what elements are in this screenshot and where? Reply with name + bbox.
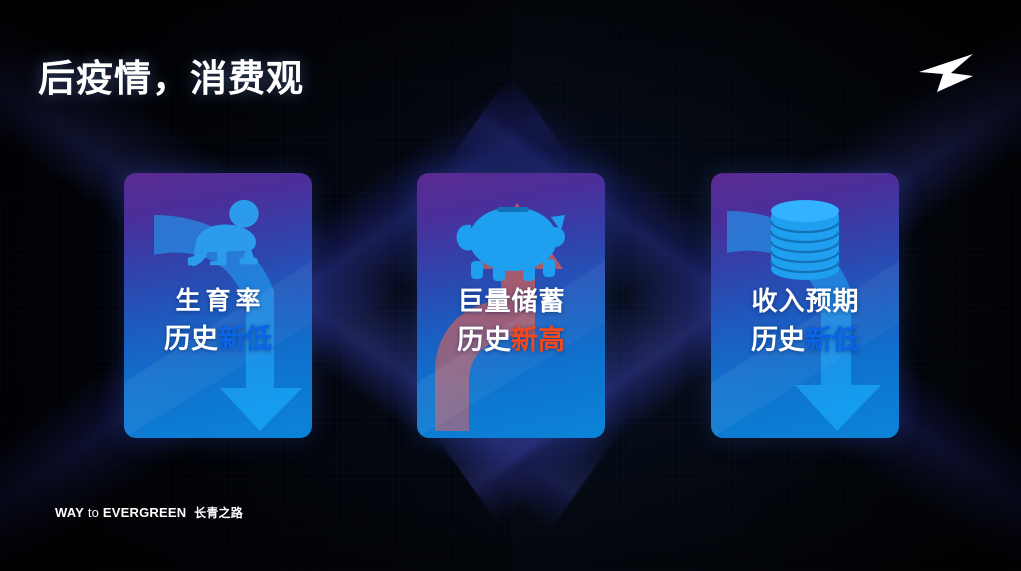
card-subline-prefix: 历史 — [164, 324, 218, 354]
card-subline-prefix: 历史 — [457, 325, 511, 355]
slide-canvas: 后疫情，消费观 — [0, 0, 1021, 571]
card-headline: 收入预期 — [711, 287, 899, 317]
stat-card-fertility[interactable]: 生育率 历史新低 — [124, 173, 312, 438]
card-subline: 历史新低 — [711, 325, 899, 356]
card-subline: 历史新高 — [417, 325, 605, 356]
card-text-fertility: 生育率 历史新低 — [124, 287, 312, 354]
card-headline: 生育率 — [124, 287, 312, 316]
footer-word-evergreen: EVERGREEN — [103, 505, 186, 520]
footer-word-chinese: 长青之路 — [194, 506, 243, 520]
footer-word-to: to — [88, 505, 99, 520]
page-title: 后疫情，消费观 — [38, 48, 304, 102]
card-text-income: 收入预期 历史新低 — [711, 287, 899, 355]
card-subline-accent: 新低 — [218, 324, 272, 354]
footer-branding: WAY to EVERGREEN 长青之路 — [55, 504, 243, 521]
card-subline-accent: 新低 — [805, 325, 859, 355]
card-subline-accent: 新高 — [511, 325, 565, 355]
card-text-savings: 巨量储蓄 历史新高 — [417, 287, 605, 355]
stat-card-savings[interactable]: 巨量储蓄 历史新高 — [417, 173, 605, 438]
stat-card-income[interactable]: 收入预期 历史新低 — [711, 173, 899, 438]
footer-word-way: WAY — [55, 505, 84, 520]
card-subline: 历史新低 — [124, 324, 312, 355]
card-subline-prefix: 历史 — [751, 325, 805, 355]
arrowhead-left-icon — [907, 52, 973, 94]
card-headline: 巨量储蓄 — [417, 287, 605, 317]
